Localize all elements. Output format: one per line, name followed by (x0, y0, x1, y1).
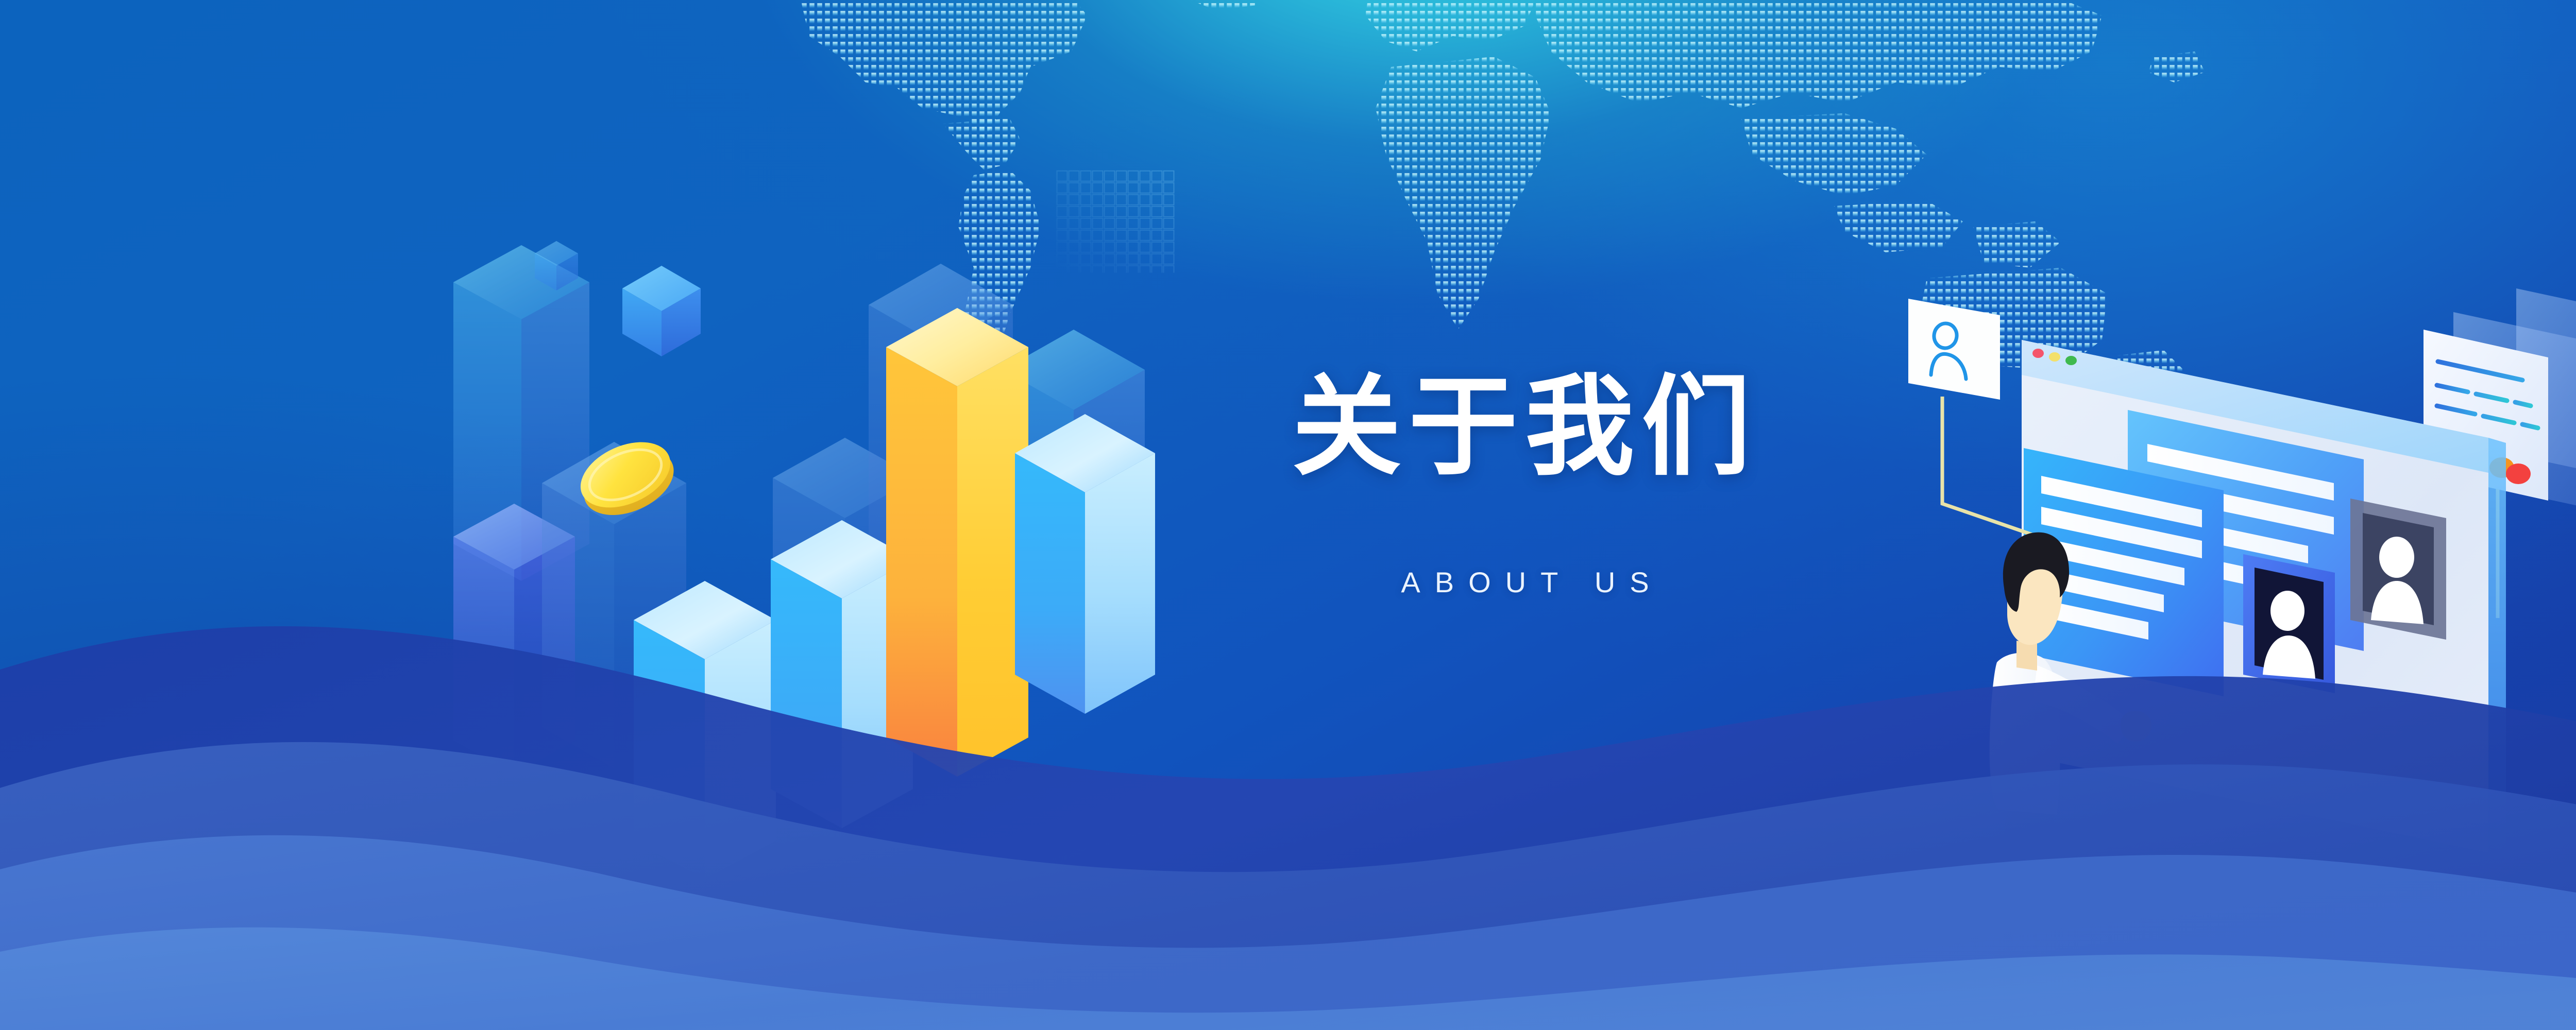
maximize-dot[interactable] (2065, 356, 2077, 365)
close-dot[interactable] (2032, 349, 2044, 358)
user-icon-card (1908, 299, 2000, 400)
minimize-dot[interactable] (2049, 352, 2060, 362)
floating-cube-mid (622, 266, 701, 356)
bottom-wave-decoration (0, 515, 2576, 1030)
about-us-banner: 关于我们 ABOUT US (0, 0, 2576, 1030)
